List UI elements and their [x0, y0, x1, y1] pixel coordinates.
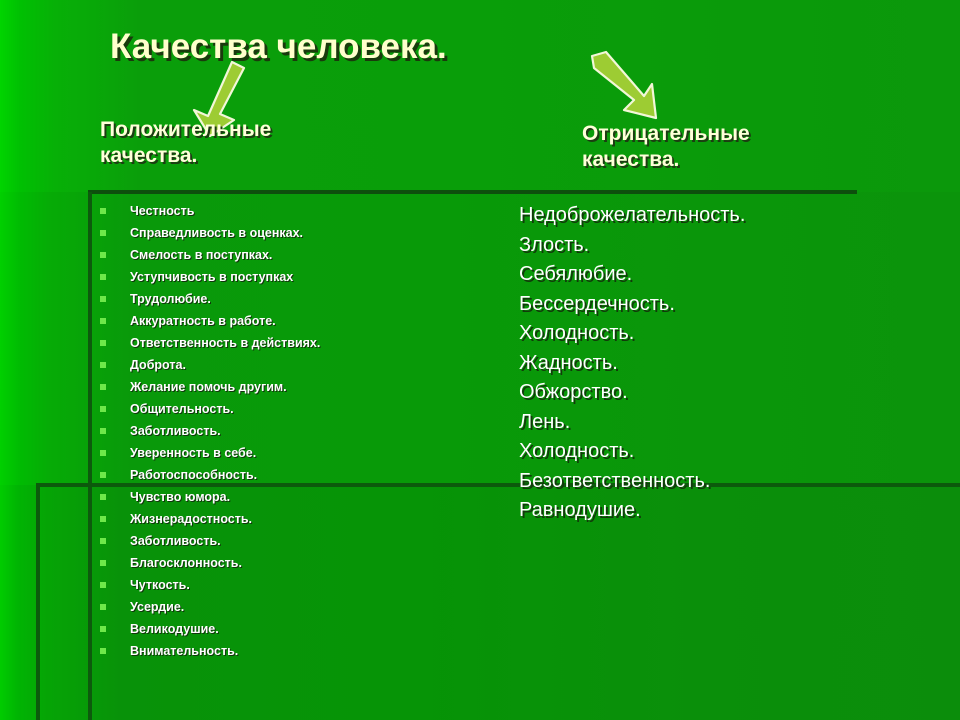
list-item-label: Общительность. [130, 402, 234, 416]
list-item: Ответственность в действиях. [98, 332, 498, 354]
negative-qualities-list: Недоброжелательность.Злость.Себялюбие.Бе… [519, 201, 939, 526]
list-item: Жизнерадостность. [98, 508, 498, 530]
list-item: Жадность. [519, 349, 939, 379]
list-item: Работоспособность. [98, 464, 498, 486]
bullet-square-icon [100, 252, 106, 258]
list-item: Себялюбие. [519, 260, 939, 290]
bullet-square-icon [100, 582, 106, 588]
list-item: Бессердечность. [519, 290, 939, 320]
bullet-gutter-rule [88, 192, 92, 720]
bullet-square-icon [100, 274, 106, 280]
bullet-square-icon [100, 494, 106, 500]
bullet-square-icon [100, 340, 106, 346]
list-item-label: Трудолюбие. [130, 292, 211, 306]
bullet-square-icon [100, 538, 106, 544]
list-item-label: Ответственность в действиях. [130, 336, 320, 350]
list-item: Чувство юмора. [98, 486, 498, 508]
bullet-square-icon [100, 450, 106, 456]
positive-qualities-list: ЧестностьСправедливость в оценках.Смелос… [98, 200, 498, 662]
bullet-square-icon [100, 362, 106, 368]
bullet-square-icon [100, 560, 106, 566]
list-item-label: Работоспособность. [130, 468, 257, 482]
bullet-square-icon [100, 384, 106, 390]
bullet-square-icon [100, 428, 106, 434]
negative-heading-line-1: Отрицательные [582, 121, 750, 147]
list-item: Аккуратность в работе. [98, 310, 498, 332]
list-item: Справедливость в оценках. [98, 222, 498, 244]
negative-column-heading: Отрицательные качества. [582, 121, 750, 174]
list-item-label: Усердие. [130, 600, 184, 614]
list-item-label: Уверенность в себе. [130, 446, 256, 460]
bullet-square-icon [100, 472, 106, 478]
list-item: Благосклонность. [98, 552, 498, 574]
positive-heading-line-2: качества. [100, 143, 271, 169]
list-item: Честность [98, 200, 498, 222]
list-item: Усердие. [98, 596, 498, 618]
negative-heading-line-2: качества. [582, 147, 750, 173]
list-item: Смелость в поступках. [98, 244, 498, 266]
bullet-square-icon [100, 318, 106, 324]
list-item: Злость. [519, 231, 939, 261]
list-item-label: Желание помочь другим. [130, 380, 287, 394]
list-item: Великодушие. [98, 618, 498, 640]
list-item-label: Жизнерадостность. [130, 512, 252, 526]
positive-column-heading: Положительные качества. [100, 117, 271, 170]
list-item-label: Аккуратность в работе. [130, 314, 276, 328]
list-item-label: Чувство юмора. [130, 490, 230, 504]
list-item: Желание помочь другим. [98, 376, 498, 398]
positive-heading-line-1: Положительные [100, 117, 271, 143]
presentation-slide: Качества человека. Положительные качеств… [0, 0, 960, 720]
list-item: Лень. [519, 408, 939, 438]
list-item-label: Заботливость. [130, 424, 221, 438]
list-item: Внимательность. [98, 640, 498, 662]
list-item: Чуткость. [98, 574, 498, 596]
list-item-label: Доброта. [130, 358, 186, 372]
bullet-square-icon [100, 648, 106, 654]
list-item: Равнодушие. [519, 496, 939, 526]
list-item: Безответственность. [519, 467, 939, 497]
list-item-label: Смелость в поступках. [130, 248, 272, 262]
list-item: Холодность. [519, 437, 939, 467]
list-item-label: Уступчивость в поступках [130, 270, 293, 284]
list-item-label: Чуткость. [130, 578, 190, 592]
list-item: Заботливость. [98, 420, 498, 442]
bullet-square-icon [100, 516, 106, 522]
bullet-square-icon [100, 230, 106, 236]
list-item: Заботливость. [98, 530, 498, 552]
bullet-square-icon [100, 406, 106, 412]
bullet-square-icon [100, 626, 106, 632]
list-item-label: Благосклонность. [130, 556, 242, 570]
list-item: Трудолюбие. [98, 288, 498, 310]
list-item-label: Великодушие. [130, 622, 219, 636]
list-item: Уступчивость в поступках [98, 266, 498, 288]
list-item-label: Заботливость. [130, 534, 221, 548]
decorative-frame-vertical [36, 483, 40, 720]
list-item: Обжорство. [519, 378, 939, 408]
header-divider-rule [88, 190, 857, 194]
bullet-square-icon [100, 604, 106, 610]
list-item: Холодность. [519, 319, 939, 349]
list-item: Общительность. [98, 398, 498, 420]
bullet-square-icon [100, 208, 106, 214]
list-item: Уверенность в себе. [98, 442, 498, 464]
list-item-label: Честность [130, 204, 194, 218]
list-item-label: Справедливость в оценках. [130, 226, 303, 240]
bullet-square-icon [100, 296, 106, 302]
list-item-label: Внимательность. [130, 644, 238, 658]
list-item: Доброта. [98, 354, 498, 376]
list-item: Недоброжелательность. [519, 201, 939, 231]
slide-title: Качества человека. [110, 27, 447, 67]
down-right-arrow-icon [586, 50, 666, 130]
